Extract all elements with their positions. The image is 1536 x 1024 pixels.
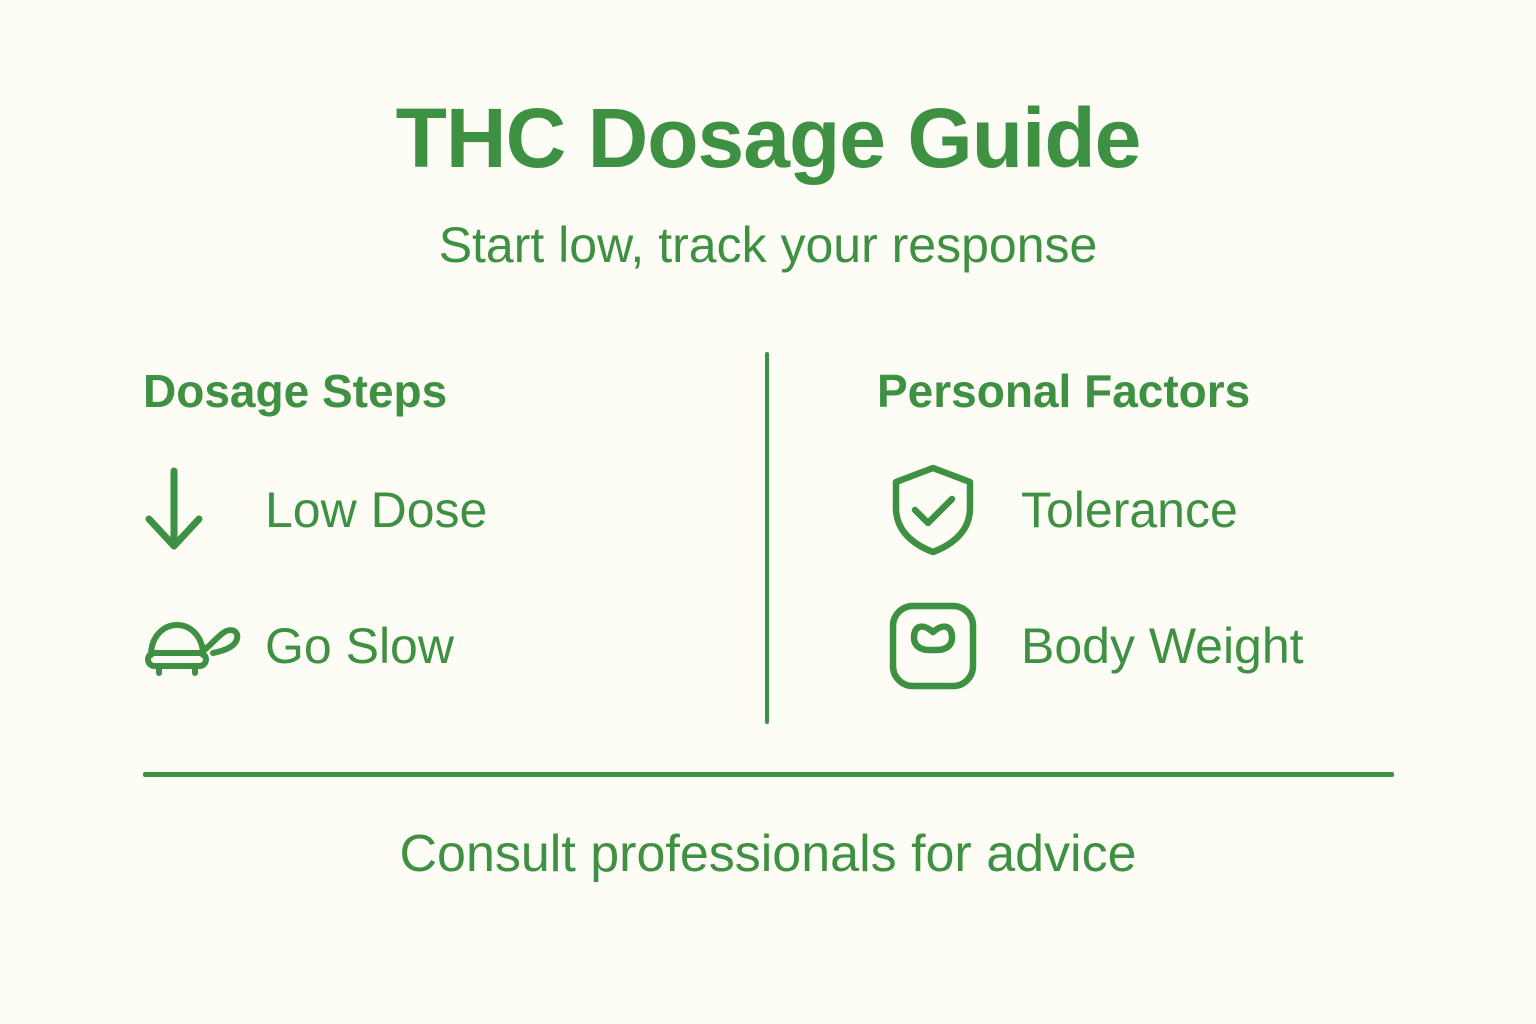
page-subtitle: Start low, track your response (0, 180, 1536, 270)
header: THC Dosage Guide Start low, track your r… (0, 96, 1536, 270)
list-item-label: Go Slow (243, 621, 454, 671)
shield-check-icon (877, 462, 989, 558)
column-dosage-steps: Dosage Steps Low Dose (143, 352, 743, 694)
list-item-low-dose: Low Dose (143, 462, 743, 558)
column-heading-personal-factors: Personal Factors (877, 352, 1397, 414)
list-item-label: Body Weight (989, 621, 1304, 671)
list-item-label: Tolerance (989, 485, 1238, 535)
list-item-body-weight: Body Weight (877, 598, 1397, 694)
turtle-icon (143, 598, 243, 694)
weight-scale-icon (877, 598, 989, 694)
footer-divider (143, 772, 1394, 777)
list-item-tolerance: Tolerance (877, 462, 1397, 558)
column-personal-factors: Personal Factors Tolerance Bo (877, 352, 1397, 694)
list-item-go-slow: Go Slow (143, 598, 743, 694)
thc-dosage-guide-poster: THC Dosage Guide Start low, track your r… (0, 0, 1536, 1024)
footer: Consult professionals for advice (0, 828, 1536, 880)
list-item-label: Low Dose (243, 485, 487, 535)
column-heading-dosage-steps: Dosage Steps (143, 352, 743, 414)
footer-note: Consult professionals for advice (0, 828, 1536, 880)
page-title: THC Dosage Guide (0, 96, 1536, 180)
arrow-down-icon (143, 462, 243, 558)
columns-container: Dosage Steps Low Dose (0, 352, 1536, 724)
